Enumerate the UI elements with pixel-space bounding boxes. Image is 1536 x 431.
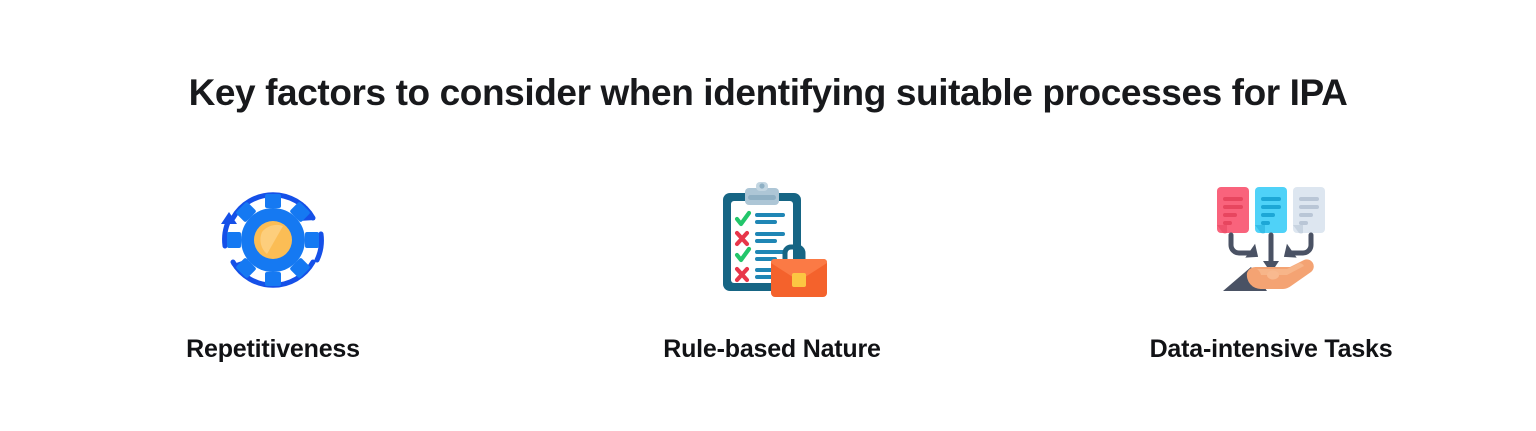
- factor-label: Data-intensive Tasks: [1150, 335, 1393, 364]
- factor-item-rule-based-nature: Rule-based Nature: [557, 165, 987, 364]
- factor-label: Repetitiveness: [186, 335, 360, 364]
- factor-item-repetitiveness: Repetitiveness: [58, 165, 488, 364]
- gear-cycle-icon: [198, 165, 348, 315]
- factors-row: Repetitiveness: [40, 165, 1496, 364]
- clipboard-checklist-briefcase-icon: [697, 165, 847, 315]
- page-title: Key factors to consider when identifying…: [0, 72, 1536, 114]
- factor-item-data-intensive-tasks: Data-intensive Tasks: [1056, 165, 1486, 364]
- documents-to-hand-icon: [1196, 165, 1346, 315]
- slide-canvas: Key factors to consider when identifying…: [0, 0, 1536, 431]
- factor-label: Rule-based Nature: [663, 335, 881, 364]
